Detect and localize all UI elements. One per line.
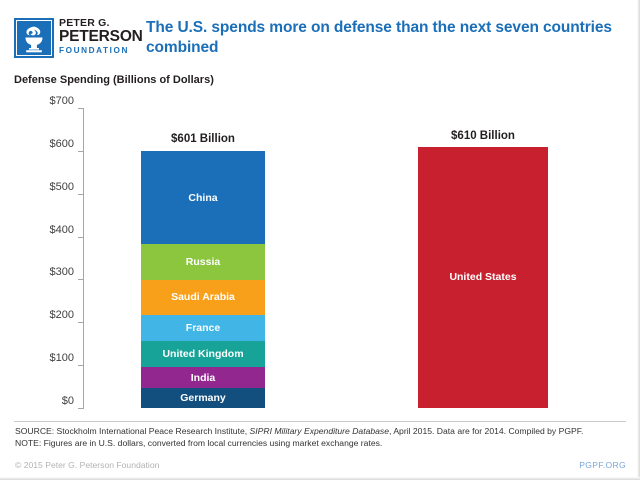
y-axis-tick-mark [78, 151, 83, 152]
bar-segment[interactable]: Saudi Arabia [141, 280, 265, 315]
y-axis-tick-text: $100 [22, 352, 74, 364]
y-axis-tick-mark [78, 108, 83, 109]
y-axis-tick-label: $500 [22, 194, 74, 206]
y-axis-tick-text: $500 [22, 181, 74, 193]
y-axis-tick-mark [78, 237, 83, 238]
bar-segment[interactable]: Germany [141, 388, 265, 408]
source-suffix: , April 2015. Data are for 2014. Compile… [389, 426, 583, 436]
y-axis-tick-text: $200 [22, 309, 74, 321]
bar-segment[interactable]: France [141, 315, 265, 342]
slide-canvas: PETER G. PETERSON FOUNDATION The U.S. sp… [0, 0, 640, 480]
y-axis-tick-label: $300 [22, 279, 74, 291]
y-axis-tick-label: $700 [22, 108, 74, 120]
y-axis-tick-mark [78, 322, 83, 323]
y-axis-tick-label: $200 [22, 322, 74, 334]
chart-plot-area: $0$100$200$300$400$500$600$700 $601 Bill… [0, 0, 640, 420]
bar-segment[interactable]: Russia [141, 244, 265, 280]
y-axis-tick-text: $600 [22, 138, 74, 150]
bar-segment[interactable]: United Kingdom [141, 341, 265, 367]
source-note: SOURCE: Stockholm International Peace Re… [15, 426, 627, 449]
y-axis-tick-label: $600 [22, 151, 74, 163]
y-axis-tick-mark [78, 279, 83, 280]
y-axis-tick-text: $400 [22, 224, 74, 236]
y-axis-tick-label: $400 [22, 237, 74, 249]
bar-next-seven-countries[interactable]: $601 BillionGermanyIndiaUnited KingdomFr… [141, 150, 265, 408]
bar-segment[interactable]: United States [418, 147, 548, 408]
y-axis-tick-text: $0 [22, 395, 74, 407]
note-line: NOTE: Figures are in U.S. dollars, conve… [15, 438, 627, 450]
footer-divider [14, 421, 626, 422]
y-axis-tick-text: $700 [22, 95, 74, 107]
source-database-name: SIPRI Military Expenditure Database [250, 426, 389, 436]
y-axis-tick-label: $0 [22, 408, 74, 420]
bar-segment[interactable]: India [141, 367, 265, 388]
y-axis-tick-mark [78, 365, 83, 366]
pgpf-org-link[interactable]: PGPF.ORG [579, 460, 626, 470]
bar-total-label: $601 Billion [141, 133, 265, 145]
source-line: SOURCE: Stockholm International Peace Re… [15, 426, 627, 438]
y-axis-tick-mark [78, 194, 83, 195]
bar-united-states[interactable]: $610 BillionUnited States [418, 147, 548, 408]
bar-total-label: $610 Billion [418, 130, 548, 142]
bar-segment[interactable]: China [141, 151, 265, 244]
source-prefix: SOURCE: Stockholm International Peace Re… [15, 426, 250, 436]
y-axis-line [83, 108, 84, 409]
copyright-text: © 2015 Peter G. Peterson Foundation [15, 460, 159, 470]
y-axis-tick-text: $300 [22, 266, 74, 278]
y-axis-tick-mark [78, 408, 83, 409]
y-axis-tick-label: $100 [22, 365, 74, 377]
